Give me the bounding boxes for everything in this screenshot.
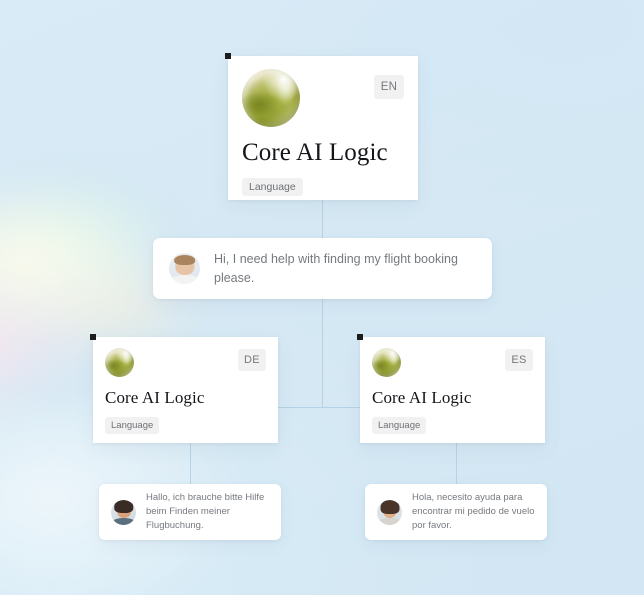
node-title: Core AI Logic: [242, 139, 404, 167]
user-avatar: [377, 500, 402, 525]
ai-orb-icon: [242, 69, 300, 127]
user-avatar: [111, 500, 136, 525]
ai-orb-icon: [105, 348, 134, 377]
language-badge-de[interactable]: DE: [238, 349, 266, 371]
node-card-core-ai-logic-en[interactable]: EN Core AI Logic Language: [228, 56, 418, 200]
node-handle-icon[interactable]: [225, 53, 231, 59]
node-title: Core AI Logic: [105, 388, 266, 408]
node-title: Core AI Logic: [372, 388, 533, 408]
message-bubble-de[interactable]: Hallo, ich brauche bitte Hilfe beim Find…: [99, 484, 281, 540]
message-text: Hola, necesito ayuda para encontrar mi p…: [412, 491, 535, 534]
language-badge-es[interactable]: ES: [505, 349, 533, 371]
node-category-chip: Language: [372, 417, 426, 434]
node-card-core-ai-logic-de[interactable]: DE Core AI Logic Language: [93, 337, 278, 443]
node-category-chip: Language: [242, 178, 303, 196]
message-bubble-en[interactable]: Hi, I need help with finding my flight b…: [153, 238, 492, 299]
message-text: Hallo, ich brauche bitte Hilfe beim Find…: [146, 491, 269, 534]
node-header: DE: [105, 348, 266, 377]
node-handle-icon[interactable]: [357, 334, 363, 340]
node-category-chip: Language: [105, 417, 159, 434]
node-card-core-ai-logic-es[interactable]: ES Core AI Logic Language: [360, 337, 545, 443]
node-header: EN: [242, 69, 404, 127]
language-badge-en[interactable]: EN: [374, 75, 404, 99]
message-bubble-es[interactable]: Hola, necesito ayuda para encontrar mi p…: [365, 484, 547, 540]
message-text: Hi, I need help with finding my flight b…: [214, 250, 476, 286]
node-handle-icon[interactable]: [90, 334, 96, 340]
flow-canvas[interactable]: EN Core AI Logic Language Hi, I need hel…: [0, 0, 644, 595]
ai-orb-icon: [372, 348, 401, 377]
node-header: ES: [372, 348, 533, 377]
user-avatar: [169, 253, 200, 284]
